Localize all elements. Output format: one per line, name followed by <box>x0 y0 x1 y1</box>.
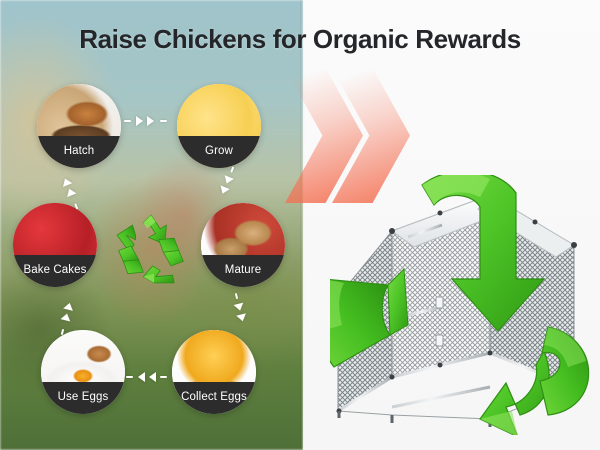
cycle-step-label: Bake Cakes <box>13 255 97 287</box>
promo-banner: Raise Chickens for Organic Rewards Hatch… <box>0 0 600 450</box>
wire-mesh-chicken-coop <box>330 175 595 435</box>
cycle-step-hatch[interactable]: Hatch <box>37 84 121 168</box>
cycle-step-label: Collect Eggs <box>172 382 256 414</box>
cycle-step-use-eggs[interactable]: Use Eggs <box>41 330 125 414</box>
flow-arrow-collect-to-use-eggs <box>126 371 176 383</box>
cycle-step-label: Mature <box>201 255 285 287</box>
cycle-step-bake-cakes[interactable]: Bake Cakes <box>13 203 97 287</box>
cycle-step-collect-eggs[interactable]: Collect Eggs <box>172 330 256 414</box>
cycle-step-label: Grow <box>177 136 261 168</box>
cycle-step-mature[interactable]: Mature <box>201 203 285 287</box>
cycle-step-grow[interactable]: Grow <box>177 84 261 168</box>
cycle-step-label: Use Eggs <box>41 382 125 414</box>
cycle-step-label: Hatch <box>37 136 121 168</box>
flow-arrow-hatch-to-grow <box>124 115 178 127</box>
page-title: Raise Chickens for Organic Rewards <box>0 24 600 55</box>
recycle-symbol-icon <box>112 212 190 286</box>
